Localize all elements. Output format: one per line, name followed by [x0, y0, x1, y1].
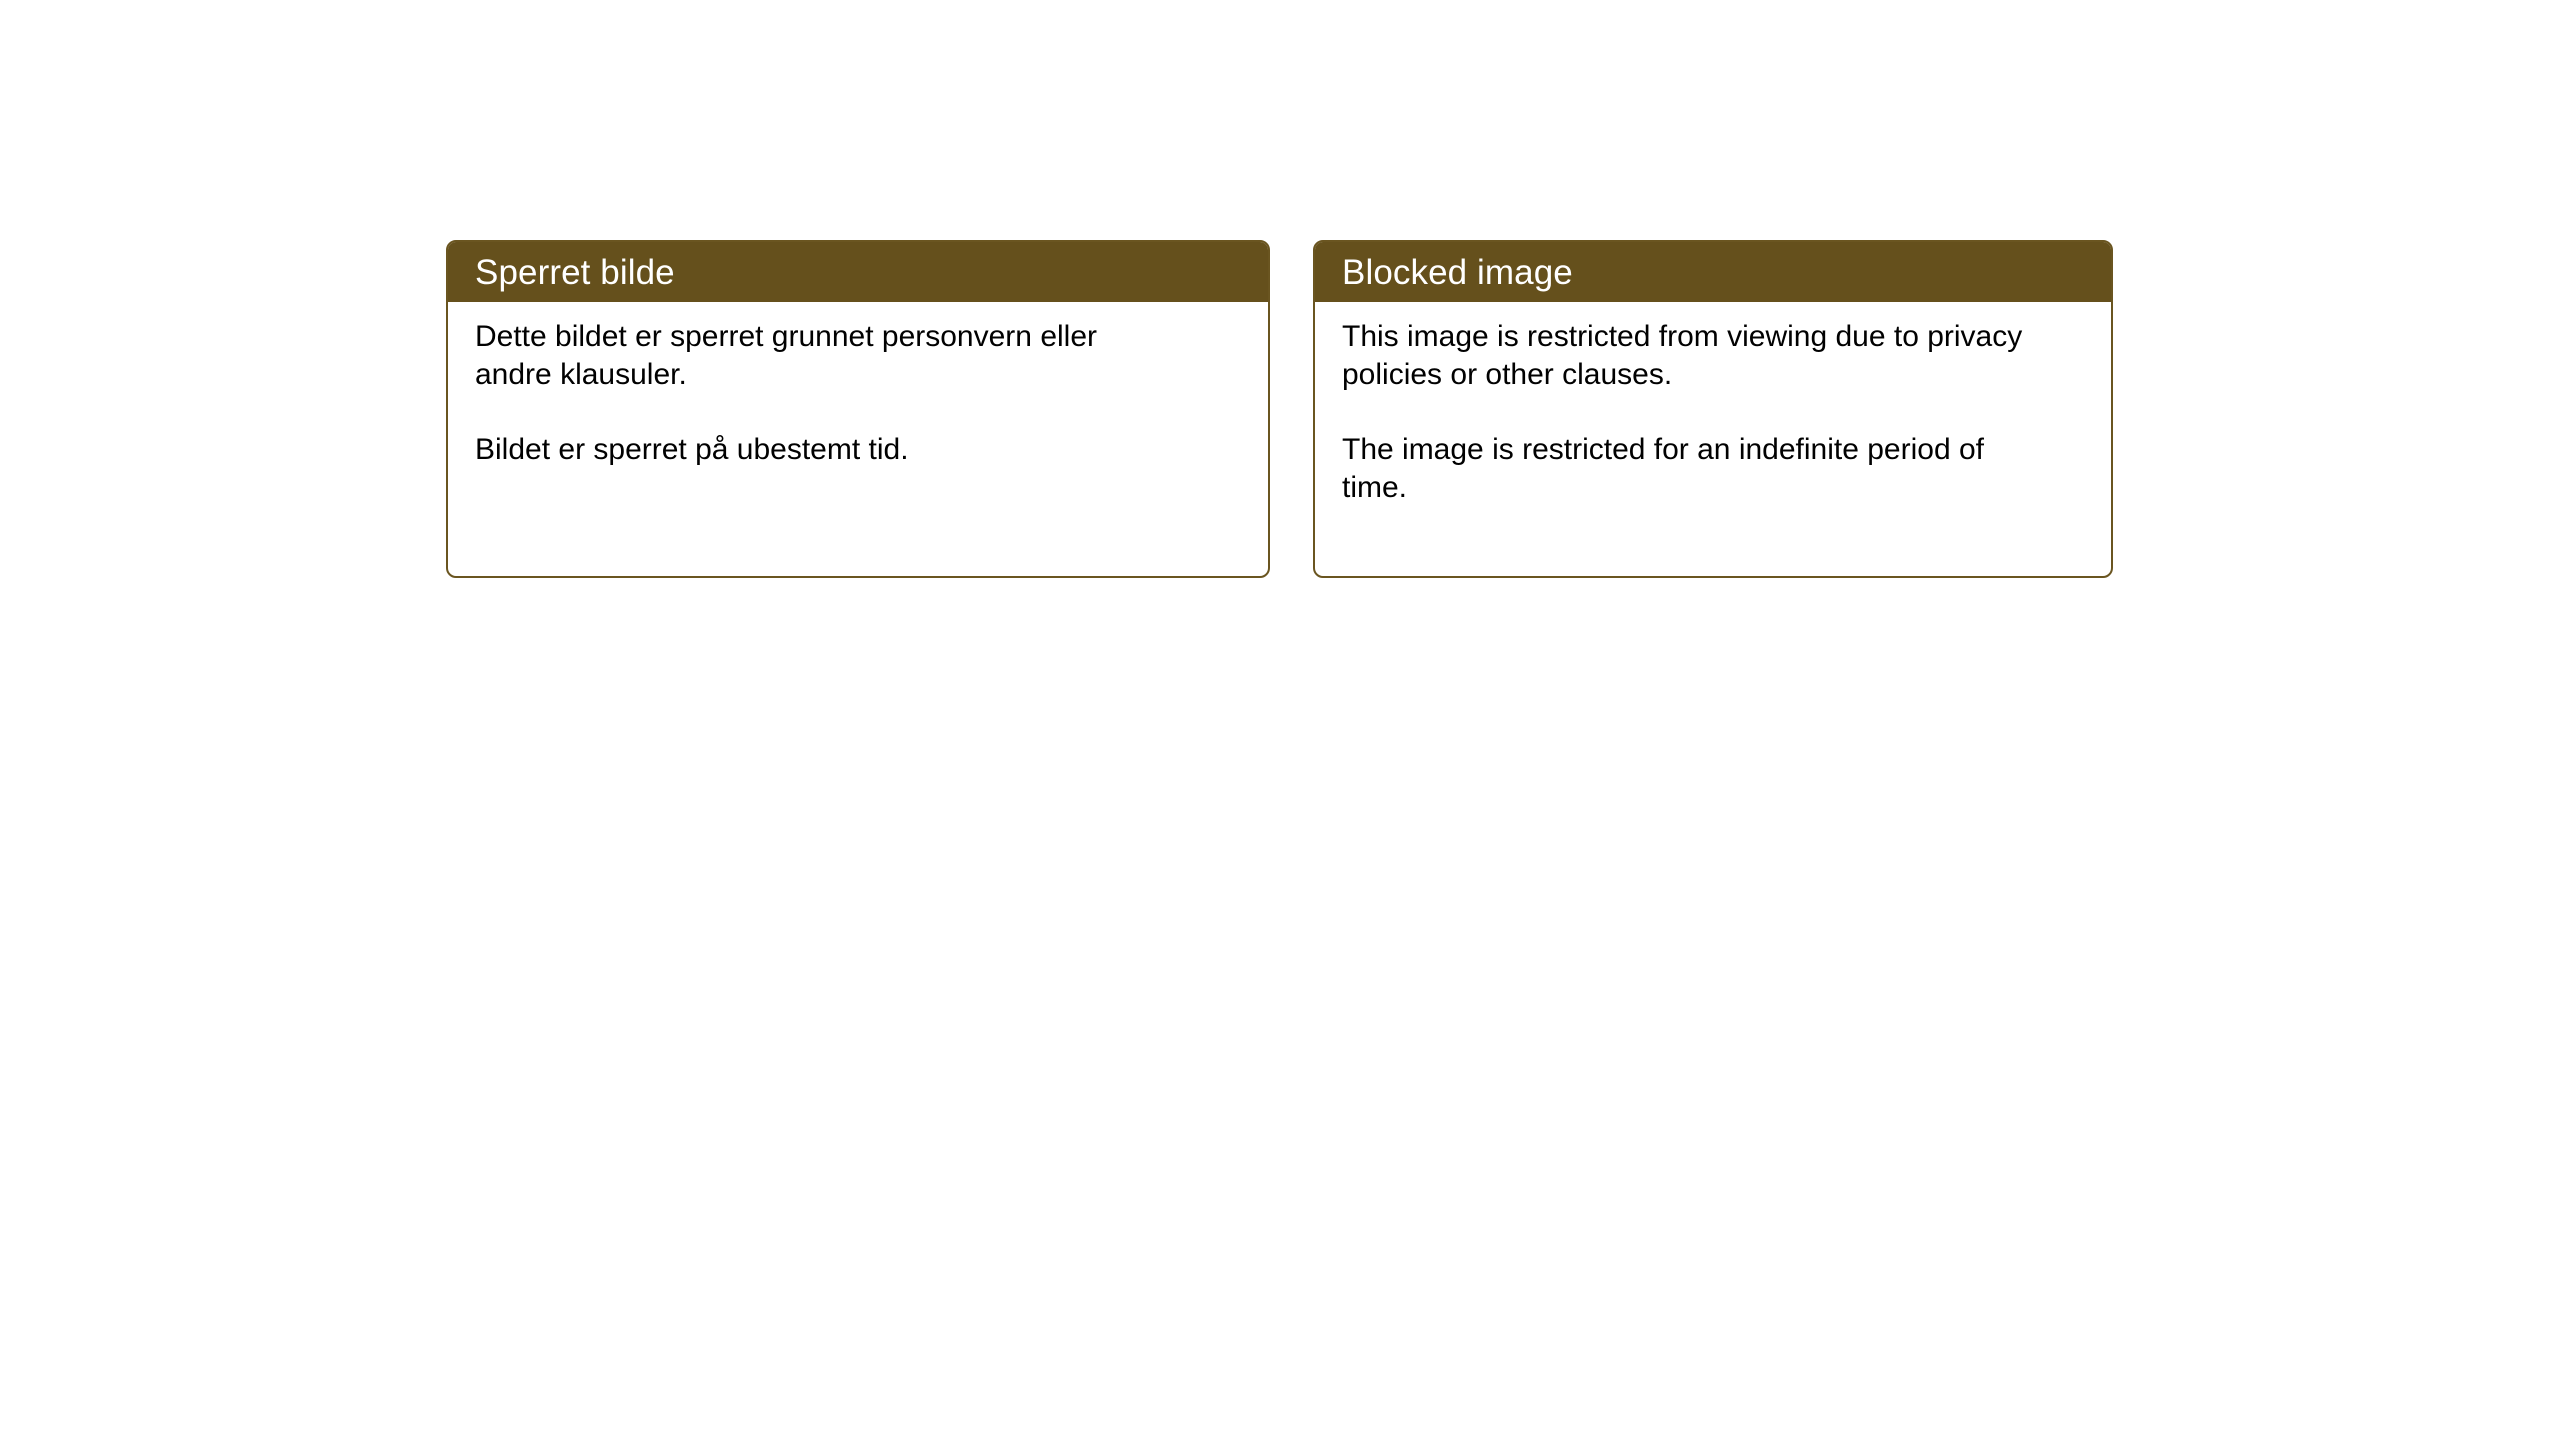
notice-title-english: Blocked image [1342, 255, 1573, 290]
page-canvas: Sperret bilde Dette bildet er sperret gr… [0, 0, 2560, 1440]
notice-header-english: Blocked image [1315, 242, 2111, 302]
blocked-image-notice-card-english: Blocked image This image is restricted f… [1313, 240, 2113, 578]
notice-header-norwegian: Sperret bilde [448, 242, 1268, 302]
notice-paragraph-duration-norwegian: Bildet er sperret på ubestemt tid. [475, 431, 1175, 469]
notice-paragraph-reason-norwegian: Dette bildet er sperret grunnet personve… [475, 318, 1175, 395]
notice-paragraph-duration-english: The image is restricted for an indefinit… [1342, 431, 2042, 508]
blocked-image-notice-card-norwegian: Sperret bilde Dette bildet er sperret gr… [446, 240, 1270, 578]
notice-body-english: This image is restricted from viewing du… [1315, 302, 2111, 508]
notice-body-norwegian: Dette bildet er sperret grunnet personve… [448, 302, 1268, 469]
notice-paragraph-reason-english: This image is restricted from viewing du… [1342, 318, 2042, 395]
notice-title-norwegian: Sperret bilde [475, 255, 675, 290]
